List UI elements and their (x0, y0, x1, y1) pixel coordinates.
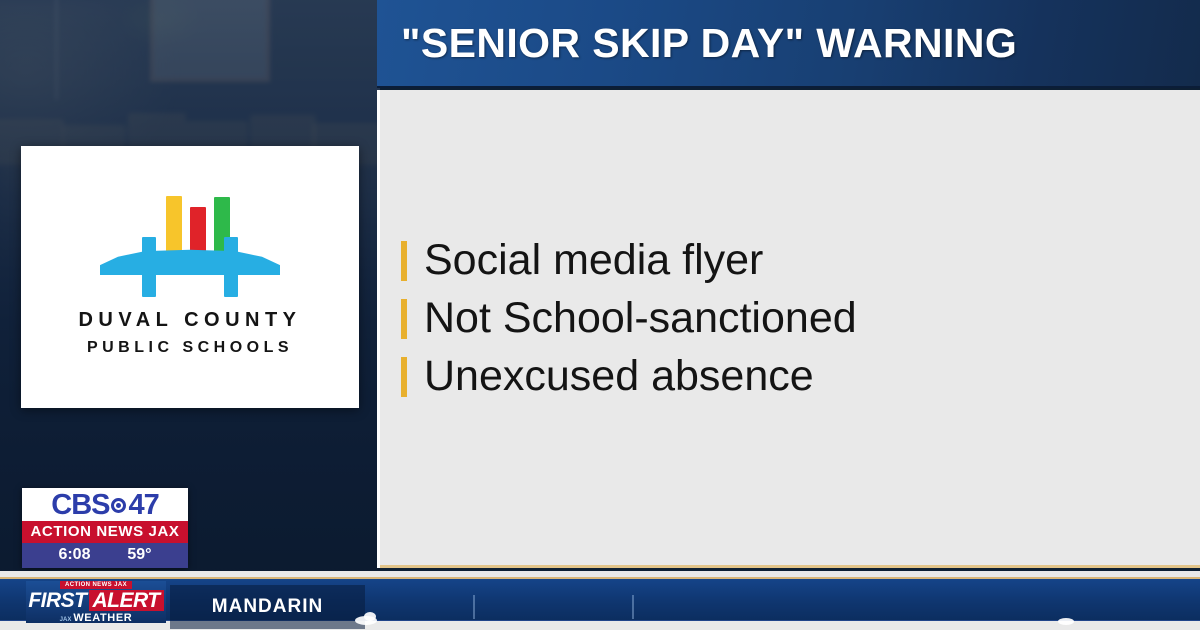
clock-time: 6:08 (58, 546, 90, 564)
ticker-bar: ACTION NEWS JAX FIRST ALERT JAX WEATHER … (0, 577, 1200, 621)
ticker-divider (473, 595, 475, 619)
dcps-bridge-icon (90, 197, 290, 297)
headline-bar: "SENIOR SKIP DAY" WARNING (377, 0, 1200, 88)
list-item: Unexcused absence (401, 354, 857, 399)
cbs-eye-icon (111, 498, 126, 513)
bridge-post-right-icon (224, 237, 238, 297)
bullet-marker-icon (401, 241, 407, 281)
bar-red-icon (190, 207, 206, 252)
first-alert-brand-label: ACTION NEWS JAX (60, 581, 132, 589)
station-bug: CBS 47 ACTION NEWS JAX 6:08 59° (22, 488, 188, 568)
cloud-icon (364, 612, 376, 621)
ticker-location-chip: MANDARIN (170, 585, 365, 629)
station-brand-label: ACTION NEWS JAX (22, 521, 188, 543)
panel-bottom-rule (380, 565, 1200, 568)
content-panel: Social media flyer Not School-sanctioned… (377, 90, 1200, 568)
list-item: Social media flyer (401, 238, 857, 283)
first-alert-alert-word: ALERT (89, 590, 164, 611)
first-alert-jax-label: JAX (60, 617, 72, 623)
ticker-divider (632, 595, 634, 619)
first-alert-first-word: FIRST (28, 590, 86, 611)
logo-line-2: PUBLIC SCHOOLS (87, 339, 293, 357)
list-item: Not School-sanctioned (401, 296, 857, 341)
broadcast-frame: DUVAL COUNTY PUBLIC SCHOOLS CBS 47 ACTIO… (0, 0, 1200, 630)
bullet-label: Unexcused absence (424, 354, 814, 399)
bullet-label: Not School-sanctioned (424, 296, 857, 341)
bullet-label: Social media flyer (424, 238, 763, 283)
bottom-ticker: ACTION NEWS JAX FIRST ALERT JAX WEATHER … (0, 571, 1200, 630)
station-time-temp-row: 6:08 59° (22, 543, 188, 568)
logo-line-1: DUVAL COUNTY (78, 309, 301, 332)
station-network-label: CBS (51, 491, 109, 520)
bullet-marker-icon (401, 299, 407, 339)
bar-yellow-icon (166, 196, 182, 252)
first-alert-weather-row: JAX WEATHER (60, 612, 133, 624)
first-alert-wordmark: FIRST ALERT (28, 590, 163, 611)
bullet-marker-icon (401, 357, 407, 397)
duval-county-public-schools-logo-card: DUVAL COUNTY PUBLIC SCHOOLS (21, 146, 359, 408)
first-alert-weather-logo: ACTION NEWS JAX FIRST ALERT JAX WEATHER (26, 581, 166, 623)
ticker-location-label: MANDARIN (212, 596, 323, 618)
cloud-icon (1058, 618, 1074, 625)
first-alert-weather-word: WEATHER (73, 612, 132, 624)
bullet-list: Social media flyer Not School-sanctioned… (401, 238, 857, 399)
station-logo-row: CBS 47 (22, 488, 188, 521)
station-channel-number: 47 (128, 491, 158, 520)
bridge-arch-icon (100, 249, 280, 275)
bridge-post-left-icon (142, 237, 156, 297)
headline-title: "SENIOR SKIP DAY" WARNING (377, 20, 1017, 67)
current-temperature: 59° (127, 546, 151, 564)
